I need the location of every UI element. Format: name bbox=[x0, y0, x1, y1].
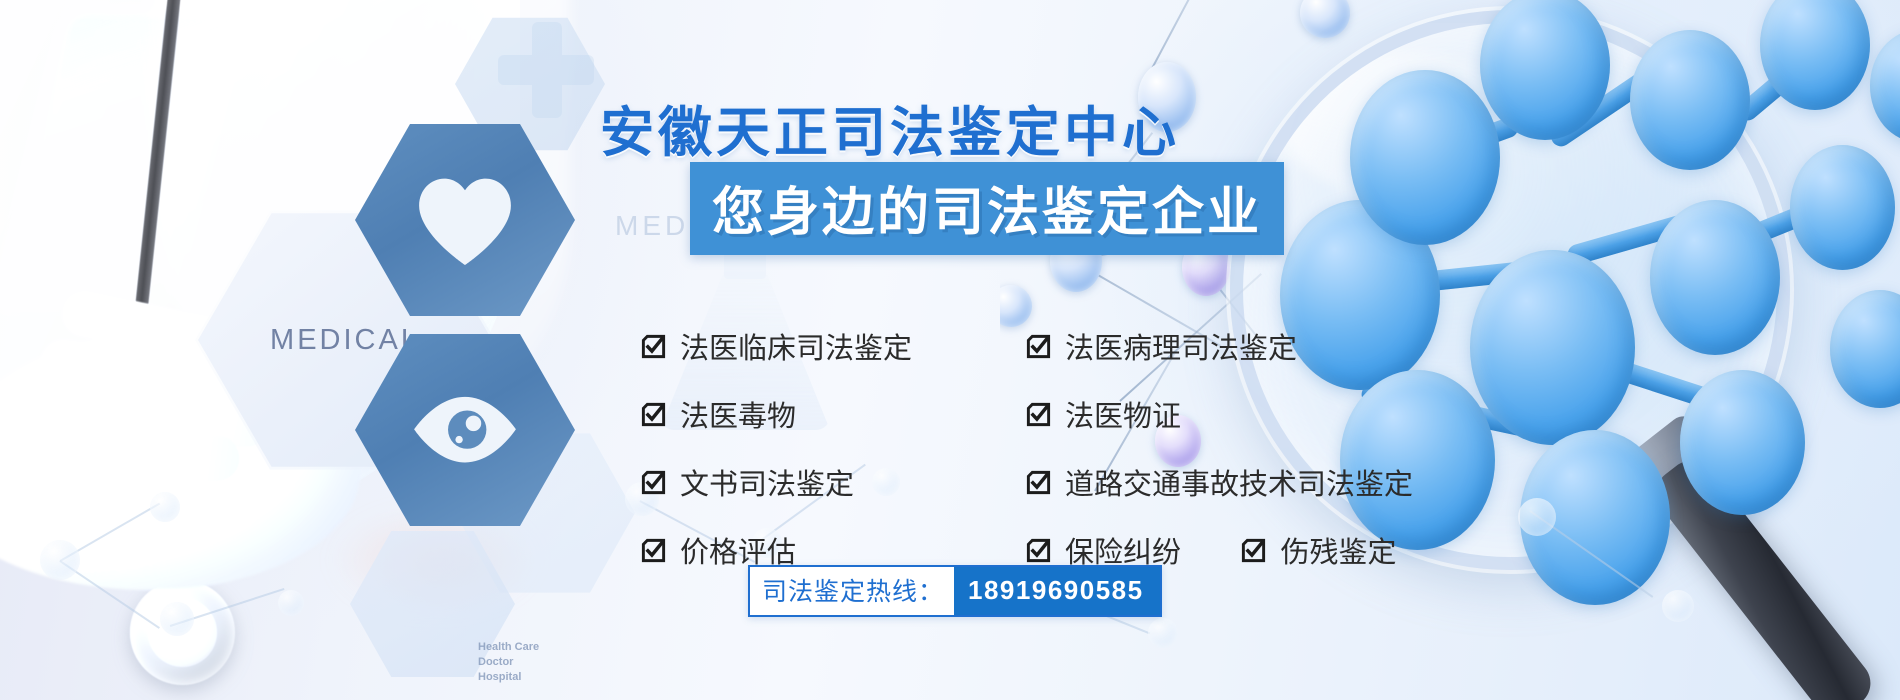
service-item[interactable]: 法医物证 bbox=[1025, 393, 1181, 435]
checkbox-checked-icon bbox=[1025, 333, 1052, 360]
hotline-box[interactable]: 司法鉴定热线： 18919690585 bbox=[748, 565, 1162, 617]
service-item[interactable]: 法医毒物 bbox=[640, 393, 796, 435]
slogan-banner: 您身边的司法鉴定企业 bbox=[690, 162, 1284, 255]
company-title: 安徽天正司法鉴定中心 bbox=[600, 88, 1180, 167]
checkbox-checked-icon bbox=[1025, 469, 1052, 496]
service-row: 法医临床司法鉴定 法医病理司法鉴定 bbox=[640, 325, 1440, 367]
checkbox-checked-icon bbox=[1240, 537, 1267, 564]
service-label: 法医毒物 bbox=[680, 393, 796, 435]
checkbox-checked-icon bbox=[640, 469, 667, 496]
checkbox-checked-icon bbox=[1025, 537, 1052, 564]
promo-banner: MEDICAL MEDICAL Health CareDoctorHospita… bbox=[0, 0, 1900, 700]
services-list: 法医临床司法鉴定 法医病理司法鉴定 bbox=[640, 325, 1440, 597]
heart-icon bbox=[411, 169, 519, 271]
stethoscope-bell-icon bbox=[130, 580, 235, 685]
slogan-text: 您身边的司法鉴定企业 bbox=[712, 184, 1262, 242]
checkbox-checked-icon bbox=[640, 333, 667, 360]
service-label: 法医病理司法鉴定 bbox=[1065, 325, 1297, 367]
medical-cross-icon bbox=[498, 22, 594, 118]
hotline-number[interactable]: 18919690585 bbox=[954, 567, 1160, 615]
service-row: 文书司法鉴定 道路交通事故技术司法鉴定 bbox=[640, 461, 1440, 503]
service-label: 道路交通事故技术司法鉴定 bbox=[1065, 461, 1413, 503]
eye-icon bbox=[406, 390, 524, 470]
checkbox-checked-icon bbox=[640, 401, 667, 428]
checkbox-checked-icon bbox=[1025, 401, 1052, 428]
service-label: 文书司法鉴定 bbox=[680, 461, 854, 503]
hotline-label: 司法鉴定热线： bbox=[750, 567, 954, 615]
service-label: 法医物证 bbox=[1065, 393, 1181, 435]
health-care-caption: Health CareDoctorHospital bbox=[478, 640, 539, 685]
checkbox-checked-icon bbox=[640, 537, 667, 564]
molecule-node bbox=[1000, 285, 1032, 327]
service-item[interactable]: 伤残鉴定 bbox=[1240, 529, 1396, 571]
hexagon-label-text: MEDICAL bbox=[270, 324, 420, 357]
service-item[interactable]: 文书司法鉴定 bbox=[640, 461, 854, 503]
service-label: 法医临床司法鉴定 bbox=[680, 325, 912, 367]
service-item[interactable]: 法医病理司法鉴定 bbox=[1025, 325, 1297, 367]
service-row: 法医毒物 法医物证 bbox=[640, 393, 1440, 435]
service-item[interactable]: 法医临床司法鉴定 bbox=[640, 325, 912, 367]
service-label: 伤残鉴定 bbox=[1280, 529, 1396, 571]
service-item[interactable]: 道路交通事故技术司法鉴定 bbox=[1025, 461, 1413, 503]
